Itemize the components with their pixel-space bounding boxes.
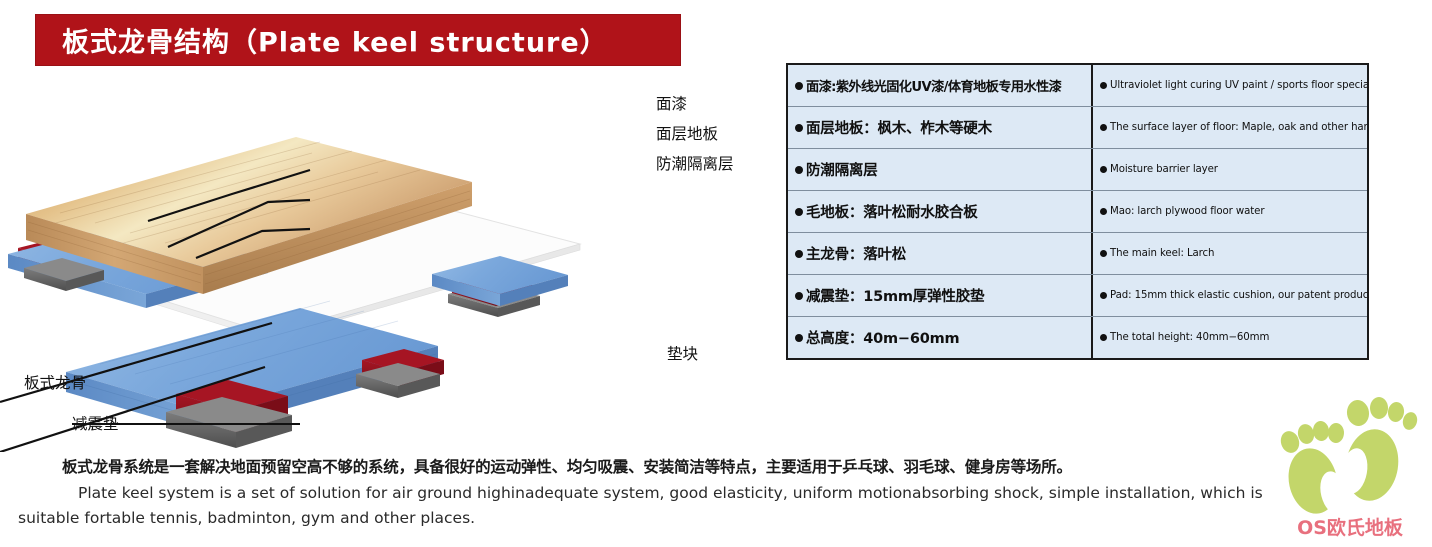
table-cell-chinese: 总高度：40m−60mm	[788, 317, 1093, 358]
bullet-icon	[795, 250, 803, 258]
spec-text-en: Pad: 15mm thick elastic cushion, our pat…	[1110, 290, 1367, 301]
description-block: 板式龙骨系统是一套解决地面预留空高不够的系统，具备很好的运动弹性、均匀吸震、安装…	[0, 455, 1432, 531]
callout-label-pad-block: 垫块	[667, 342, 698, 364]
callout-label-surface-floor: 面层地板	[656, 122, 718, 144]
callout-label-top-coat: 面漆	[656, 92, 687, 114]
table-cell-english: Mao: larch plywood floor water	[1093, 191, 1367, 232]
page-title: 板式龙骨结构（Plate keel structure）	[62, 21, 608, 60]
table-row: 面层地板：枫木、柞木等硬木 The surface layer of floor…	[788, 107, 1367, 149]
spec-text-en: Moisture barrier layer	[1110, 164, 1218, 175]
bullet-icon	[795, 334, 803, 342]
table-cell-chinese: 防潮隔离层	[788, 149, 1093, 190]
table-cell-chinese: 毛地板：落叶松耐水胶合板	[788, 191, 1093, 232]
bullet-icon	[1100, 250, 1107, 257]
bullet-icon	[1100, 292, 1107, 299]
bullet-icon	[1100, 334, 1107, 341]
table-row: 总高度：40m−60mm The total height: 40mm−60mm	[788, 317, 1367, 358]
spec-text-en: The surface layer of floor: Maple, oak a…	[1110, 122, 1367, 133]
spec-text-cn: 防潮隔离层	[806, 159, 878, 180]
spec-text-en: The main keel: Larch	[1110, 248, 1214, 259]
spec-text-cn: 毛地板：落叶松耐水胶合板	[806, 201, 978, 222]
table-cell-english: Pad: 15mm thick elastic cushion, our pat…	[1093, 275, 1367, 316]
spec-text-cn: 面漆:紫外线光固化UV漆/体育地板专用水性漆	[806, 76, 1061, 95]
spec-text-en: The total height: 40mm−60mm	[1110, 332, 1269, 343]
table-row: 减震垫：15mm厚弹性胶垫 Pad: 15mm thick elastic cu…	[788, 275, 1367, 317]
table-cell-chinese: 面层地板：枫木、柞木等硬木	[788, 107, 1093, 148]
bullet-icon	[1100, 166, 1107, 173]
table-cell-english: The main keel: Larch	[1093, 233, 1367, 274]
table-cell-chinese: 面漆:紫外线光固化UV漆/体育地板专用水性漆	[788, 65, 1093, 106]
diagram-svg	[0, 72, 770, 452]
spec-text-cn: 总高度：40m−60mm	[806, 327, 959, 348]
table-cell-english: The total height: 40mm−60mm	[1093, 317, 1367, 358]
bullet-icon	[795, 82, 803, 90]
spec-text-cn: 主龙骨：落叶松	[806, 243, 906, 264]
page-root: 板式龙骨结构（Plate keel structure）	[0, 0, 1432, 547]
table-cell-chinese: 减震垫：15mm厚弹性胶垫	[788, 275, 1093, 316]
bullet-icon	[795, 292, 803, 300]
table-row: 毛地板：落叶松耐水胶合板 Mao: larch plywood floor wa…	[788, 191, 1367, 233]
spec-text-en: Ultraviolet light curing UV paint / spor…	[1110, 80, 1367, 91]
bullet-icon	[795, 124, 803, 132]
bullet-icon	[1100, 124, 1107, 131]
callout-label-shock-pad: 减震垫	[72, 412, 119, 434]
table-cell-english: Ultraviolet light curing UV paint / spor…	[1093, 65, 1367, 106]
structure-diagram: 面漆 面层地板 防潮隔离层 垫块	[0, 72, 770, 452]
callout-label-plate-keel: 板式龙骨	[24, 371, 86, 393]
table-cell-english: The surface layer of floor: Maple, oak a…	[1093, 107, 1367, 148]
logo-brand-text: OS欧氏地板	[1268, 513, 1432, 540]
spec-text-en: Mao: larch plywood floor water	[1110, 206, 1264, 217]
bullet-icon	[795, 166, 803, 174]
table-row: 主龙骨：落叶松 The main keel: Larch	[788, 233, 1367, 275]
callout-label-moisture-layer: 防潮隔离层	[656, 152, 734, 174]
title-banner: 板式龙骨结构（Plate keel structure）	[35, 14, 681, 66]
table-row: 面漆:紫外线光固化UV漆/体育地板专用水性漆 Ultraviolet light…	[788, 65, 1367, 107]
spec-text-cn: 减震垫：15mm厚弹性胶垫	[806, 285, 984, 306]
table-row: 防潮隔离层 Moisture barrier layer	[788, 149, 1367, 191]
bullet-icon	[795, 208, 803, 216]
table-cell-chinese: 主龙骨：落叶松	[788, 233, 1093, 274]
specification-table: 面漆:紫外线光固化UV漆/体育地板专用水性漆 Ultraviolet light…	[786, 63, 1369, 360]
bullet-icon	[1100, 208, 1107, 215]
description-chinese: 板式龙骨系统是一套解决地面预留空高不够的系统，具备很好的运动弹性、均匀吸震、安装…	[0, 455, 1432, 479]
spec-text-cn: 面层地板：枫木、柞木等硬木	[806, 117, 992, 138]
bullet-icon	[1100, 82, 1107, 89]
description-english: Plate keel system is a set of solution f…	[0, 479, 1432, 531]
table-cell-english: Moisture barrier layer	[1093, 149, 1367, 190]
